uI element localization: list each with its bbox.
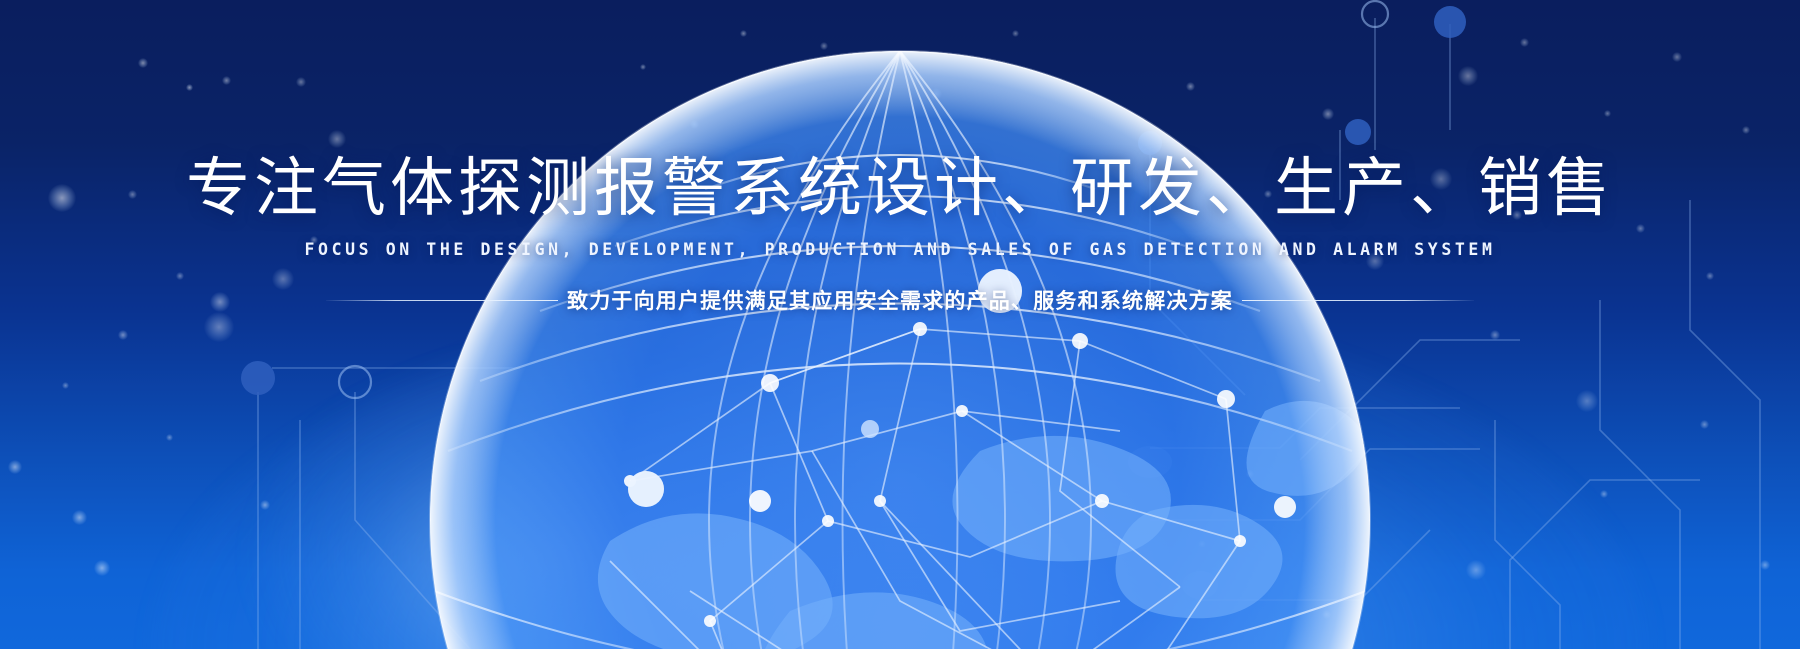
bokeh-particle: [1600, 490, 1608, 498]
bokeh-particle: [1012, 30, 1019, 37]
bokeh-particle: [62, 382, 69, 389]
bokeh-particle: [166, 434, 173, 441]
bokeh-particle: [1520, 38, 1529, 47]
bokeh-particle: [820, 42, 828, 50]
bokeh-particle: [740, 30, 747, 37]
circuit-decoration: [0, 0, 1800, 649]
bokeh-particle: [1466, 560, 1486, 580]
globe-left-glow: [250, 349, 870, 649]
bokeh-particle: [1760, 560, 1770, 570]
bokeh-particle: [1322, 108, 1334, 120]
hero-text-block: 专注气体探测报警系统设计、研发、生产、销售 FOCUS ON THE DESIG…: [0, 156, 1800, 315]
globe-glow: [150, 289, 1650, 649]
bokeh-particle: [72, 510, 87, 525]
bokeh-particle: [296, 77, 306, 87]
bokeh-particle: [1490, 330, 1500, 340]
bokeh-particle: [1186, 82, 1195, 91]
page-subtitle-english: FOCUS ON THE DESIGN, DEVELOPMENT, PRODUC…: [0, 240, 1800, 259]
bokeh-particle: [640, 64, 646, 70]
bokeh-particle: [1672, 52, 1682, 62]
bokeh-particle: [1742, 126, 1750, 134]
tagline-text: 致力于向用户提供满足其应用安全需求的产品、服务和系统解决方案: [558, 285, 1242, 315]
bokeh-particle: [204, 312, 234, 342]
bokeh-particle: [1576, 390, 1598, 412]
divider-line-right: [1242, 300, 1474, 301]
divider-line-left: [326, 300, 558, 301]
bokeh-particle: [1246, 470, 1254, 478]
bokeh-particle: [1198, 540, 1206, 548]
bokeh-particle: [186, 84, 193, 91]
bokeh-particle: [222, 76, 231, 85]
bokeh-particle: [94, 560, 110, 576]
page-title: 专注气体探测报警系统设计、研发、生产、销售: [0, 156, 1800, 220]
bokeh-particle: [930, 88, 942, 100]
bokeh-particle: [260, 500, 270, 510]
bokeh-particle: [328, 130, 346, 148]
bokeh-particle: [690, 120, 699, 129]
bokeh-particle: [1604, 110, 1611, 117]
bokeh-particle: [1458, 66, 1478, 86]
bokeh-particle: [1700, 420, 1709, 429]
tagline-row: 致力于向用户提供满足其应用安全需求的产品、服务和系统解决方案: [0, 285, 1800, 315]
hero-banner: 专注气体探测报警系统设计、研发、生产、销售 FOCUS ON THE DESIG…: [0, 0, 1800, 649]
bokeh-particle: [138, 58, 148, 68]
globe-graphic: [360, 0, 1440, 649]
bokeh-particle: [118, 330, 128, 340]
bokeh-particle: [1322, 610, 1331, 619]
bokeh-particle: [8, 460, 22, 474]
